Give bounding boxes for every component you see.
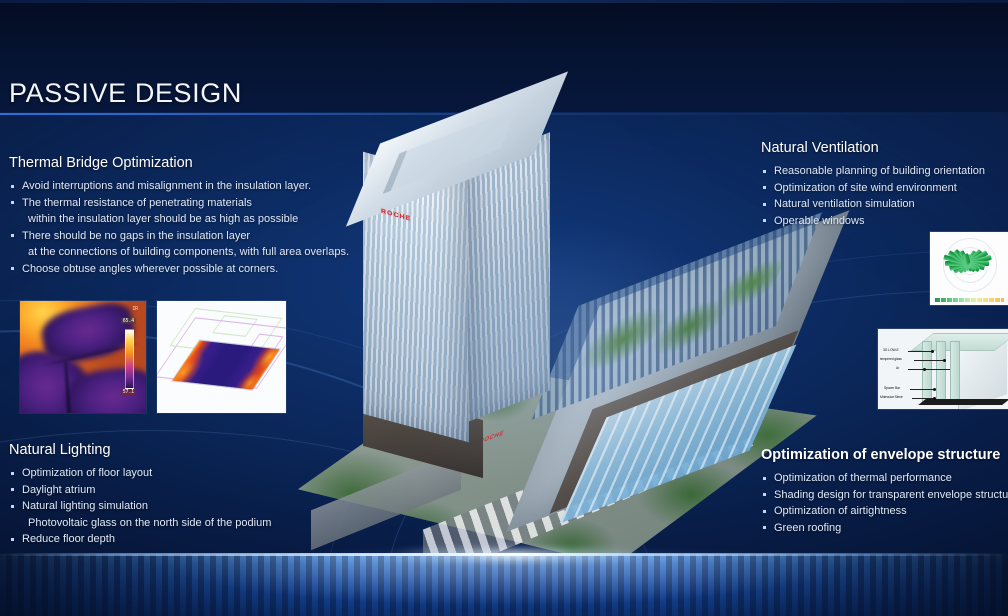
bullet-item: The thermal resistance of penetrating ma… [9,195,349,212]
section-natural-ventilation: Natural Ventilation Reasonable planning … [761,140,985,229]
floor-edge-shade [0,554,343,616]
glazing-leader-dot [931,350,934,353]
section-thermal-bridge-optimization: Thermal Bridge Optimization Avoid interr… [9,155,349,277]
floor-stripes-band [0,554,1008,616]
bullet-item: Operable windows [761,213,985,230]
bullet-item: Optimization of floor layout [9,465,271,482]
thermal-scale-max-label: 65.4 [121,318,136,324]
section-heading: Thermal Bridge Optimization [9,155,349,171]
glazing-leader-line [908,369,950,370]
page-title: PASSIVE DESIGN [9,78,242,109]
glazing-label-argon: Ar [896,366,899,370]
thermal-bridge-3d-simulation [157,301,286,413]
slide-root: PASSIVE DESIGN ROCHE ROCHE Thermal Bridg… [0,0,1008,616]
thermal-color-scale [125,329,134,389]
glazing-leader-line [910,389,934,390]
glazing-bottom-frame [918,399,1008,405]
bullet-item: Natural lighting simulation [9,498,271,515]
glazing-leader-line [908,351,932,352]
bullet-list-natural-ventilation: Reasonable planning of building orientat… [761,163,985,229]
tower-facade-side [468,132,550,421]
bullet-item-continuation: within the insulation layer should be as… [9,211,349,228]
glazing-leader-line [914,360,944,361]
glazing-pane [950,341,960,405]
section-envelope-structure: Optimization of envelope structure Optim… [761,447,1008,536]
bullet-list-thermal-bridge: Avoid interruptions and misalignment in … [9,178,349,277]
section-heading: Natural Ventilation [761,140,985,156]
bullet-item: Optimization of thermal performance [761,470,1008,487]
horizon-hotspot [383,548,645,560]
glazing-label-spacer-bar: Spacer Bar [884,386,900,390]
insulated-glazing-section: 3G LOW-E tempered glass Ar Spacer Bar Mo… [878,329,1008,409]
glazing-leader-dot [933,388,936,391]
glazing-label-tempered-glass: tempered glass [880,357,902,361]
glazing-pane [936,341,946,405]
thermal-corner-label: IR [130,306,140,312]
infrared-thermal-photo: IR 65.4 57.1 [20,301,146,413]
wind-rose-legend-ticks [934,297,1004,303]
bullet-item-continuation: at the connections of building component… [9,244,349,261]
thermal-scale-min-label: 57.1 [121,389,136,395]
bullet-item: There should be no gaps in the insulatio… [9,228,349,245]
bullet-item: Optimization of site wind environment [761,180,985,197]
glazing-leader-line [912,398,934,399]
bullet-item: Choose obtuse angles wherever possible a… [9,261,349,278]
bullet-item: Daylight atrium [9,482,271,499]
glazing-leader-dot [943,359,946,362]
bullet-item: Avoid interruptions and misalignment in … [9,178,349,195]
bullet-item-continuation: Photovoltaic glass on the north side of … [9,515,271,532]
section-heading: Optimization of envelope structure [761,447,1008,463]
bullet-item: Shading design for transparent envelope … [761,487,1008,504]
glazing-leader-dot [923,368,926,371]
bullet-item: Natural ventilation simulation [761,196,985,213]
tower: ROCHE [363,132,549,432]
bullet-item: Optimization of airtightness [761,503,1008,520]
floor-edge-shade [665,554,1008,616]
glazing-label-low-e: 3G LOW-E [883,348,899,352]
glazing-leader-dot [933,397,936,400]
wind-rose-diagram [930,232,1008,305]
bullet-list-envelope-structure: Optimization of thermal performance Shad… [761,470,1008,536]
glazing-label-molecular-sieve: Molecular Sieve [880,395,903,399]
bullet-item: Reasonable planning of building orientat… [761,163,985,180]
section-heading: Natural Lighting [9,442,271,458]
